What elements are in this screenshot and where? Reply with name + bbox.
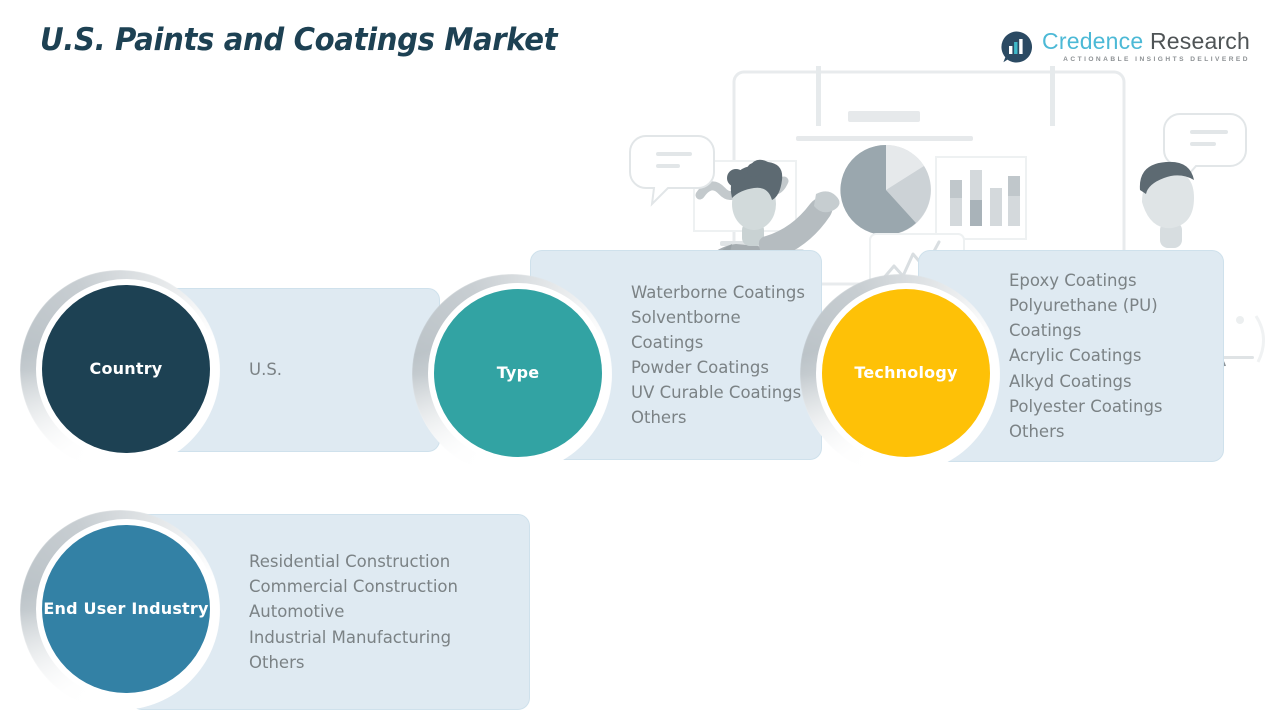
list-item: Powder Coatings [631,355,815,380]
segment-row-technology: Epoxy Coatings Polyurethane (PU) Coating… [790,250,1230,462]
list-item: Others [631,405,815,430]
list-item: Industrial Manufacturing [249,625,519,650]
list-item: Alkyd Coatings [1009,369,1215,394]
list-item: Residential Construction [249,549,519,574]
list-item: Solventborne Coatings [631,305,815,355]
end-user-industry-circle-cluster[interactable]: End User Industry [20,510,220,710]
page-title: U.S. Paints and Coatings Market [40,22,557,58]
end-user-industry-item-list: Residential Construction Commercial Cons… [249,515,519,709]
list-item: Acrylic Coatings [1009,343,1215,368]
list-item: Others [1009,419,1215,444]
segment-row-end-user-industry: Residential Construction Commercial Cons… [20,500,520,710]
segment-row-country: U.S. Country [20,270,440,470]
logo-wordmark: Credence Research [1042,30,1250,53]
technology-circle-label-disc[interactable]: Technology [822,289,990,457]
technology-label: Technology [854,363,957,383]
credence-bar-chart-bubble-icon [999,30,1033,64]
type-label: Type [497,363,540,383]
country-circle-label-disc[interactable]: Country [42,285,210,453]
list-item: Epoxy Coatings [1009,268,1215,293]
segment-row-type: Waterborne Coatings Solventborne Coating… [412,250,832,460]
infographic-canvas: U.S. Country Waterborne Coatings Solvent… [0,0,1280,720]
list-item: Automotive [249,599,519,624]
list-item: Others [249,650,519,675]
list-item: Commercial Construction [249,574,519,599]
country-label: Country [90,359,163,379]
country-circle-cluster[interactable]: Country [20,270,220,470]
type-item-list: Waterborne Coatings Solventborne Coating… [631,251,815,459]
end-user-industry-circle-label-disc[interactable]: End User Industry [42,525,210,693]
type-circle-cluster[interactable]: Type [412,274,612,474]
logo-tagline: Actionable Insights Delivered [1042,57,1250,64]
technology-circle-cluster[interactable]: Technology [800,274,1000,474]
credence-research-logo[interactable]: Credence Research Actionable Insights De… [999,26,1250,68]
technology-item-list: Epoxy Coatings Polyurethane (PU) Coating… [1009,251,1215,461]
logo-word-research: Research [1143,28,1250,54]
list-item: Polyurethane (PU) Coatings [1009,293,1215,343]
country-item-list: U.S. [249,289,425,451]
list-item: Polyester Coatings [1009,394,1215,419]
list-item: U.S. [249,357,425,382]
logo-word-credence: Credence [1042,28,1143,54]
list-item: UV Curable Coatings [631,380,815,405]
end-user-industry-label: End User Industry [43,599,208,619]
logo-text-block: Credence Research Actionable Insights De… [1042,30,1250,64]
type-circle-label-disc[interactable]: Type [434,289,602,457]
list-item: Waterborne Coatings [631,280,815,305]
